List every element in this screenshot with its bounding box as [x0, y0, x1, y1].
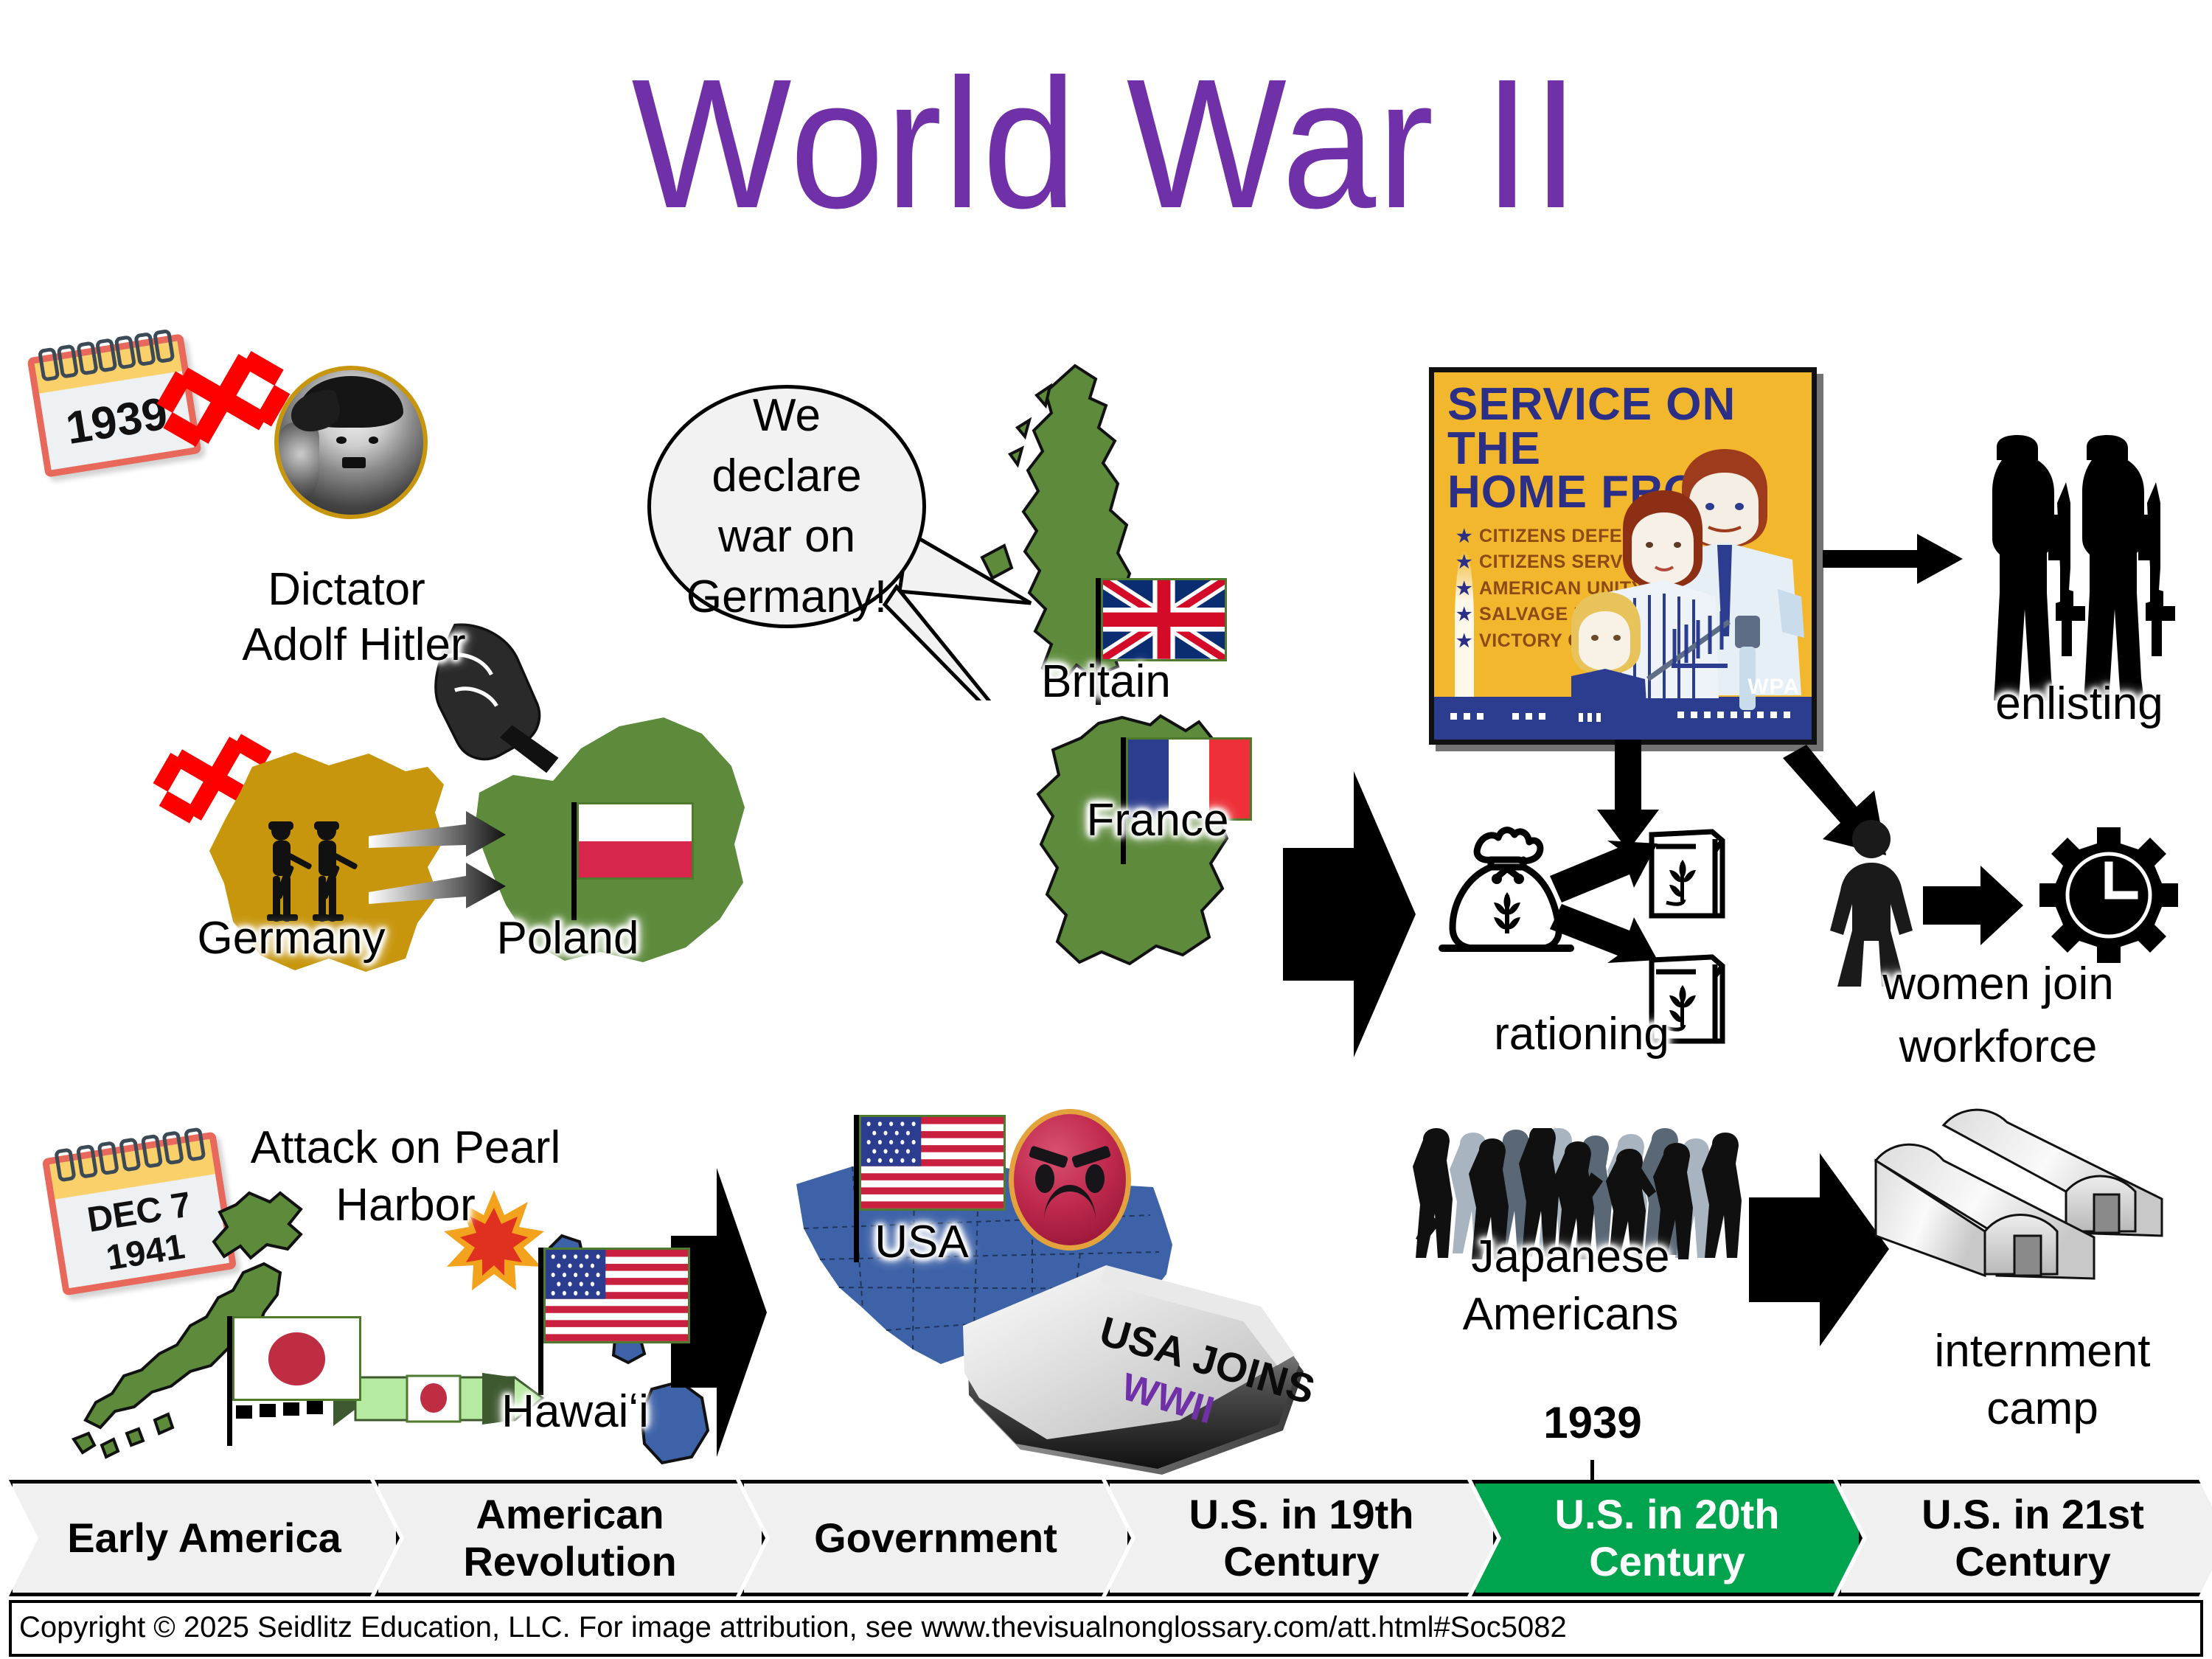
hitler-label-dictator: Dictator [251, 564, 442, 616]
timeline-marker-tick [1590, 1460, 1594, 1482]
internment-label-line1: internment [1895, 1326, 2190, 1377]
enlisting-label: enlisting [1947, 678, 2212, 730]
ration-bag-icon [1644, 824, 1739, 922]
internment-label-line2: camp [1917, 1383, 2168, 1435]
footer-copyright: Copyright © 2025 Seidlitz Education, LLC… [9, 1602, 2203, 1652]
infographic-page: World War II 1939 Dictator Adolf [0, 0, 2212, 1659]
timeline-marker-year: 1939 [1489, 1397, 1696, 1448]
enlisting-soldiers-icon [1961, 435, 2197, 715]
hawaii-label: Hawaiʻi [442, 1386, 708, 1438]
transition-arrow-icon [1283, 767, 1416, 1062]
germany-label: Germany [159, 913, 424, 964]
timeline-item-american-revolution[interactable]: American Revolution [375, 1480, 765, 1596]
poster-family-illustration [1571, 445, 1807, 710]
home-front-poster: SERVICE ON THE HOME FRONT CITIZENS DEFEN… [1429, 367, 1817, 745]
japan-flag-icon [227, 1316, 357, 1446]
angry-face-icon [1009, 1109, 1131, 1251]
timeline-item-us-21st-century[interactable]: U.S. in 21st Century [1837, 1480, 2212, 1596]
timeline: Early America American Revolution Govern… [9, 1480, 2203, 1596]
timeline-item-early-america[interactable]: Early America [9, 1480, 400, 1596]
page-title: World War II [88, 52, 2124, 236]
women-workforce-label-line2: workforce [1843, 1021, 2153, 1073]
britain-label: Britain [981, 656, 1231, 708]
arrow-woman-to-work-icon [1923, 861, 2023, 950]
pearl-harbor-label-line1: Attack on Pearl [221, 1122, 590, 1174]
timeline-item-us-19th-century[interactable]: U.S. in 19th Century [1106, 1480, 1497, 1596]
timeline-item-government[interactable]: Government [740, 1480, 1131, 1596]
women-workforce-label-line1: women join [1843, 959, 2153, 1010]
rationing-label: rationing [1434, 1009, 1729, 1060]
internment-camp-icon [1873, 1105, 2183, 1311]
poland-flag-icon [571, 802, 689, 920]
timeline-item-us-20th-century[interactable]: U.S. in 20th Century [1472, 1480, 1863, 1596]
pearl-harbor-label-line2: Harbor [280, 1180, 531, 1231]
arrow-to-internment-icon [1749, 1150, 1889, 1349]
adolf-hitler-portrait [274, 366, 428, 519]
poster-wpa-credit: WPA [1747, 675, 1800, 700]
japanese-americans-label-line2: Americans [1408, 1289, 1733, 1340]
declaration-speech-bubble: We declare war on Germany! [647, 385, 926, 628]
japanese-americans-label-line1: Japanese [1423, 1231, 1718, 1283]
usa-flag-icon [854, 1115, 1001, 1262]
arrow-to-enlisting-icon [1823, 529, 1963, 588]
invasion-arrows-icon [369, 810, 531, 920]
poland-label: Poland [442, 913, 693, 964]
footer-divider-bottom [9, 1654, 2203, 1657]
newspaper: USA JOINS WWII [959, 1253, 1312, 1497]
usa-flag-icon [538, 1248, 686, 1395]
hitler-label-name: Adolf Hitler [199, 619, 509, 671]
france-label: France [1032, 795, 1283, 846]
